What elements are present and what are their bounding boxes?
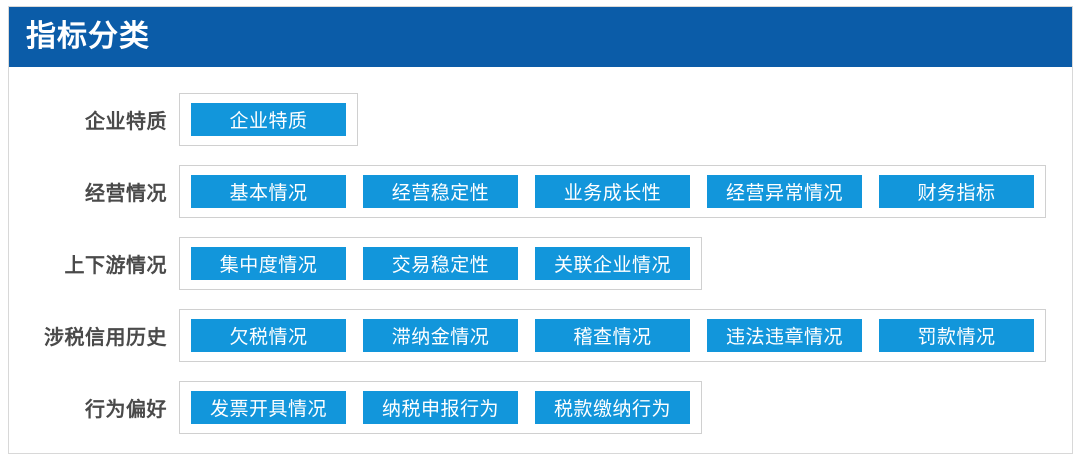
card-header: 指标分类	[9, 7, 1072, 67]
chip-item[interactable]: 交易稳定性	[363, 247, 518, 280]
chip-group: 集中度情况 交易稳定性 关联企业情况	[179, 237, 702, 290]
category-row: 经营情况 基本情况 经营稳定性 业务成长性 经营异常情况 财务指标	[9, 165, 1072, 218]
chip-group: 企业特质	[179, 93, 358, 146]
chip-item[interactable]: 违法违章情况	[707, 319, 862, 352]
chip-item[interactable]: 财务指标	[879, 175, 1034, 208]
chip-group: 欠税情况 滞纳金情况 稽查情况 违法违章情况 罚款情况	[179, 309, 1046, 362]
chip-item[interactable]: 业务成长性	[535, 175, 690, 208]
chip-item[interactable]: 税款缴纳行为	[535, 391, 690, 424]
category-row-label: 经营情况	[9, 177, 179, 206]
chip-item[interactable]: 罚款情况	[879, 319, 1034, 352]
category-row-label: 行为偏好	[9, 393, 179, 422]
category-row: 涉税信用历史 欠税情况 滞纳金情况 稽查情况 违法违章情况 罚款情况	[9, 309, 1072, 362]
category-rows: 企业特质 企业特质 经营情况 基本情况 经营稳定性 业务成长性 经营异常情况 财…	[9, 68, 1072, 454]
chip-group: 基本情况 经营稳定性 业务成长性 经营异常情况 财务指标	[179, 165, 1046, 218]
category-row-label: 涉税信用历史	[9, 321, 179, 350]
chip-item[interactable]: 稽查情况	[535, 319, 690, 352]
chip-item[interactable]: 经营稳定性	[363, 175, 518, 208]
category-row-label: 企业特质	[9, 105, 179, 134]
chip-item[interactable]: 发票开具情况	[191, 391, 346, 424]
chip-item[interactable]: 欠税情况	[191, 319, 346, 352]
chip-item[interactable]: 滞纳金情况	[363, 319, 518, 352]
category-row-label: 上下游情况	[9, 249, 179, 278]
chip-item[interactable]: 纳税申报行为	[363, 391, 518, 424]
chip-item[interactable]: 经营异常情况	[707, 175, 862, 208]
category-row: 企业特质 企业特质	[9, 93, 1072, 146]
indicator-classification-card: 指标分类 企业特质 企业特质 经营情况 基本情况 经营稳定性 业务成长性 经营异…	[8, 6, 1073, 454]
page-title: 指标分类	[26, 22, 150, 52]
category-row: 上下游情况 集中度情况 交易稳定性 关联企业情况	[9, 237, 1072, 290]
chip-item[interactable]: 基本情况	[191, 175, 346, 208]
chip-item[interactable]: 关联企业情况	[535, 247, 690, 280]
chip-group: 发票开具情况 纳税申报行为 税款缴纳行为	[179, 381, 702, 434]
chip-item[interactable]: 集中度情况	[191, 247, 346, 280]
chip-item[interactable]: 企业特质	[191, 103, 346, 136]
category-row: 行为偏好 发票开具情况 纳税申报行为 税款缴纳行为	[9, 381, 1072, 434]
